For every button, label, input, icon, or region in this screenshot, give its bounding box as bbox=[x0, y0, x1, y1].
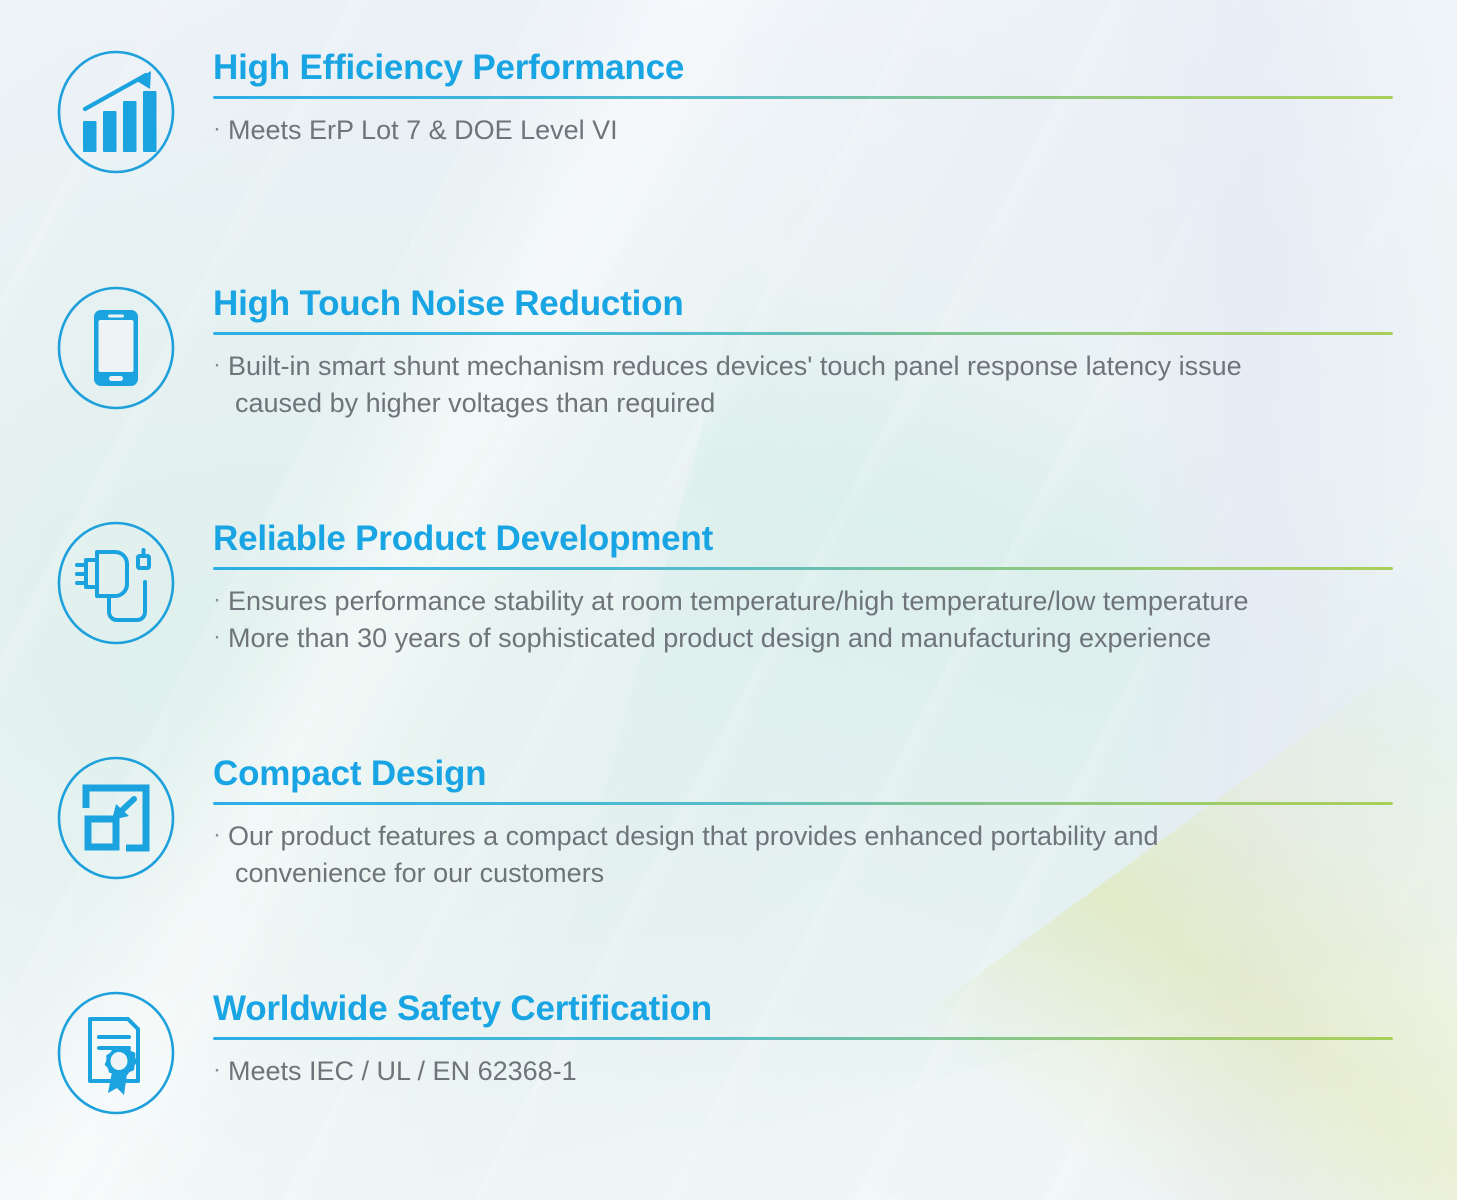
feature-bullets: ·Our product features a compact design t… bbox=[213, 818, 1393, 893]
feature-bullets: ·Ensures performance stability at room t… bbox=[213, 583, 1393, 658]
feature-bullet-line: ·Our product features a compact design t… bbox=[213, 818, 1393, 855]
feature-title: High Touch Noise Reduction bbox=[213, 284, 1393, 323]
bullet-text: Meets ErP Lot 7 & DOE Level VI bbox=[228, 115, 618, 145]
feature-body: High Touch Noise Reduction ·Built-in sma… bbox=[213, 284, 1393, 423]
bullet-glyph: · bbox=[213, 115, 221, 142]
bullet-glyph: · bbox=[213, 623, 221, 650]
feature-divider bbox=[213, 332, 1393, 335]
feature-item-compact-design: Compact Design ·Our product features a c… bbox=[52, 754, 1393, 893]
feature-title: Worldwide Safety Certification bbox=[213, 989, 1393, 1028]
bullet-text: Built-in smart shunt mechanism reduces d… bbox=[228, 351, 1242, 381]
bullet-text: Ensures performance stability at room te… bbox=[228, 586, 1248, 616]
feature-title: High Efficiency Performance bbox=[213, 48, 1393, 87]
feature-title: Compact Design bbox=[213, 754, 1393, 793]
feature-divider bbox=[213, 1037, 1393, 1040]
certificate-seal-icon bbox=[52, 989, 180, 1117]
feature-bullets: ·Meets IEC / UL / EN 62368-1 bbox=[213, 1053, 1393, 1090]
feature-item-high-efficiency-performance: High Efficiency Performance ·Meets ErP L… bbox=[52, 48, 1393, 176]
feature-bullet-line: ·Meets ErP Lot 7 & DOE Level VI bbox=[213, 112, 1393, 149]
feature-divider bbox=[213, 96, 1393, 99]
growth-chart-icon bbox=[52, 48, 180, 176]
feature-bullets: ·Meets ErP Lot 7 & DOE Level VI bbox=[213, 112, 1393, 149]
bullet-glyph: · bbox=[213, 821, 221, 848]
feature-bullets: ·Built-in smart shunt mechanism reduces … bbox=[213, 348, 1393, 423]
features-list: High Efficiency Performance ·Meets ErP L… bbox=[0, 0, 1457, 1200]
bullet-glyph: · bbox=[213, 586, 221, 613]
bullet-text: Our product features a compact design th… bbox=[228, 821, 1159, 851]
bullet-text: Meets IEC / UL / EN 62368-1 bbox=[228, 1056, 577, 1086]
feature-body: Compact Design ·Our product features a c… bbox=[213, 754, 1393, 893]
bullet-glyph: · bbox=[213, 351, 221, 378]
smartphone-icon bbox=[52, 284, 180, 412]
feature-body: Worldwide Safety Certification ·Meets IE… bbox=[213, 989, 1393, 1090]
feature-highlights-page: High Efficiency Performance ·Meets ErP L… bbox=[0, 0, 1457, 1200]
feature-title: Reliable Product Development bbox=[213, 519, 1393, 558]
feature-divider bbox=[213, 567, 1393, 570]
feature-item-reliable-product-development: Reliable Product Development ·Ensures pe… bbox=[52, 519, 1393, 658]
bullet-glyph: · bbox=[213, 1056, 221, 1083]
compact-resize-icon bbox=[52, 754, 180, 882]
feature-bullet-line: ·Meets IEC / UL / EN 62368-1 bbox=[213, 1053, 1393, 1090]
feature-bullet-line: ·Built-in smart shunt mechanism reduces … bbox=[213, 348, 1393, 385]
bullet-text: caused by higher voltages than required bbox=[235, 388, 715, 418]
feature-divider bbox=[213, 802, 1393, 805]
power-adapter-icon bbox=[52, 519, 180, 647]
bullet-text: convenience for our customers bbox=[235, 858, 604, 888]
feature-item-high-touch-noise-reduction: High Touch Noise Reduction ·Built-in sma… bbox=[52, 284, 1393, 423]
feature-bullet-line: ·More than 30 years of sophisticated pro… bbox=[213, 620, 1393, 657]
feature-bullet-line: ·Ensures performance stability at room t… bbox=[213, 583, 1393, 620]
feature-item-worldwide-safety-certification: Worldwide Safety Certification ·Meets IE… bbox=[52, 989, 1393, 1117]
feature-body: High Efficiency Performance ·Meets ErP L… bbox=[213, 48, 1393, 149]
feature-body: Reliable Product Development ·Ensures pe… bbox=[213, 519, 1393, 658]
feature-bullet-line: convenience for our customers bbox=[213, 855, 1393, 892]
bullet-text: More than 30 years of sophisticated prod… bbox=[228, 623, 1211, 653]
feature-bullet-line: caused by higher voltages than required bbox=[213, 385, 1393, 422]
